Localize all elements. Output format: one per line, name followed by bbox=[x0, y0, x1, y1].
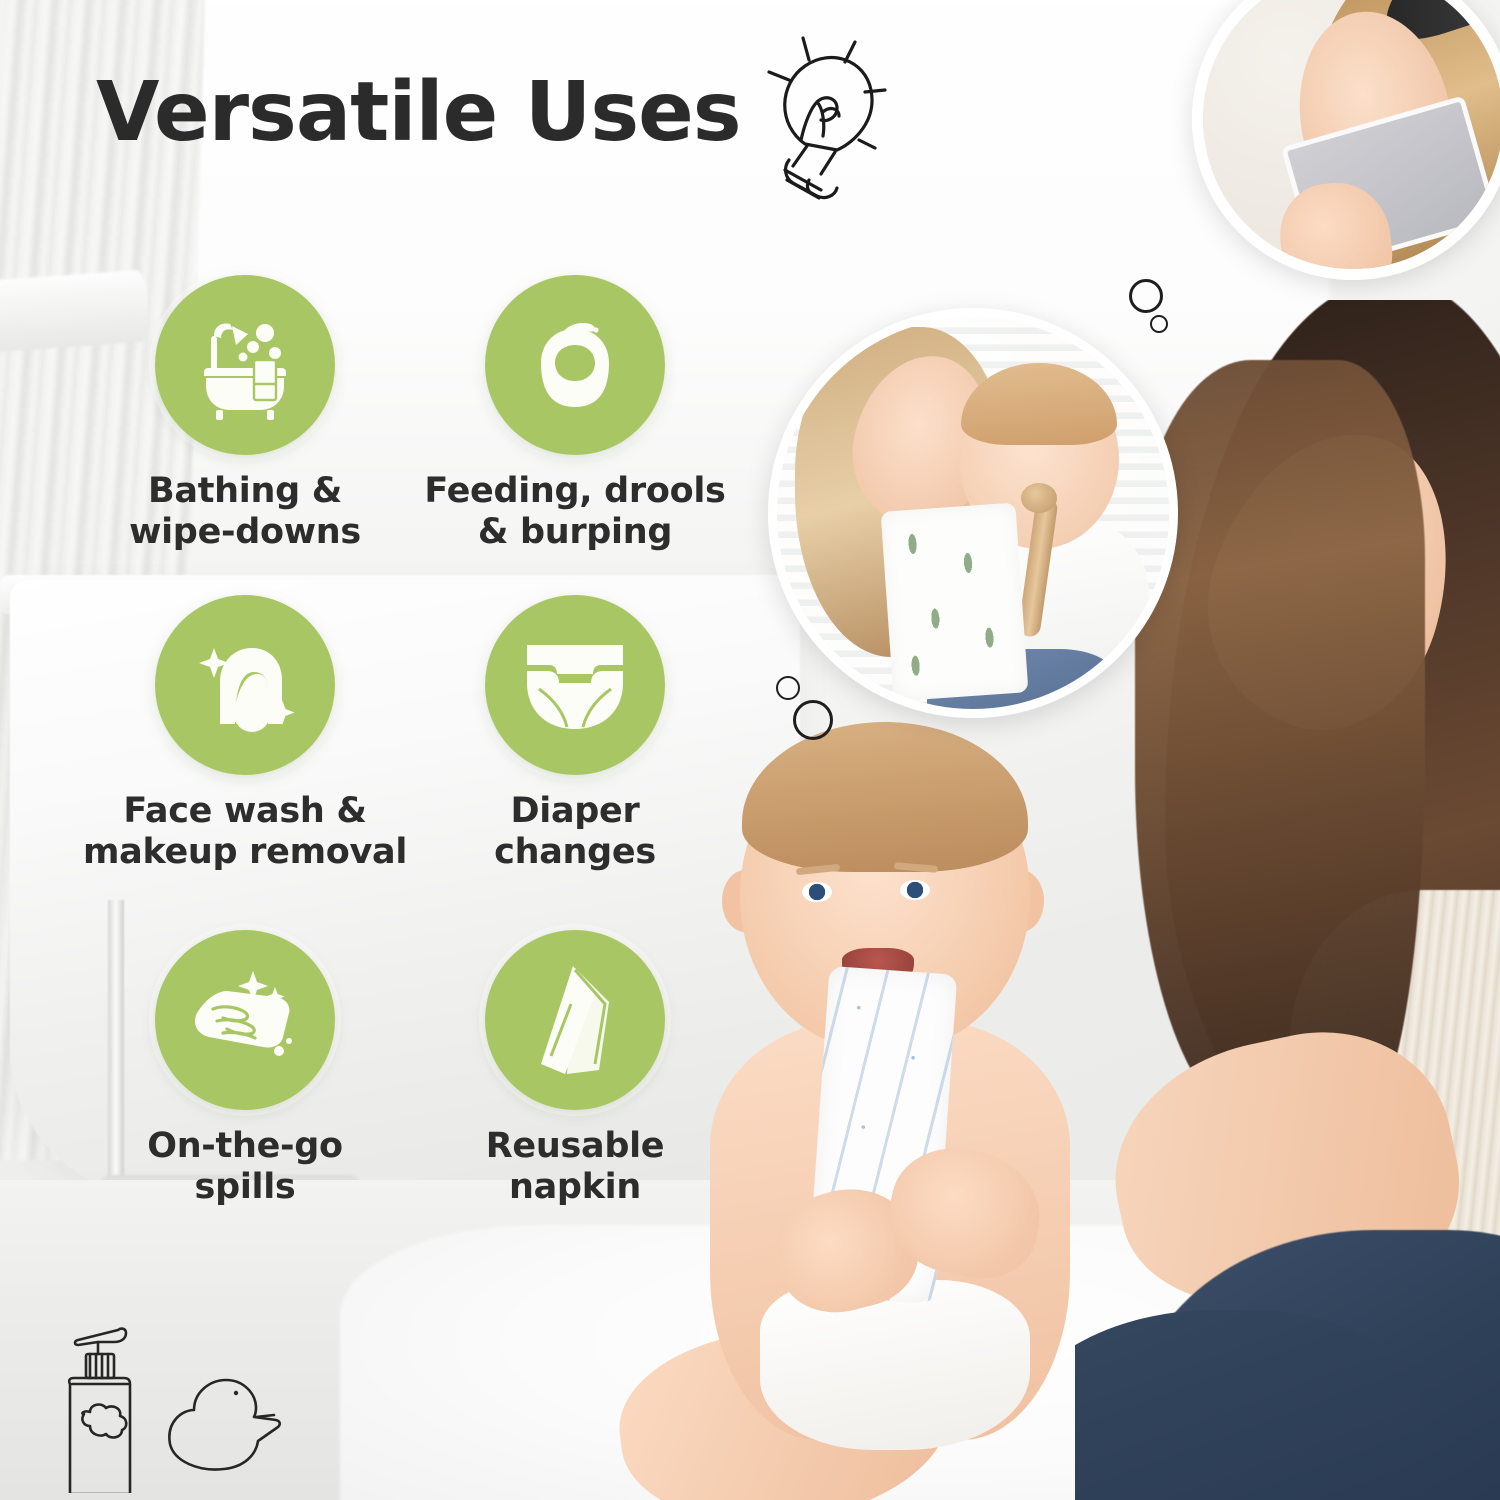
feature-label: Feeding, drools & burping bbox=[405, 471, 745, 552]
feature-label-line1: Bathing & bbox=[75, 471, 415, 512]
bubble-decoration bbox=[776, 676, 800, 700]
feature-on-the-go-spills[interactable]: On-the-go spills bbox=[75, 930, 415, 1207]
baby-hair bbox=[742, 722, 1028, 872]
feature-label-line2: napkin bbox=[405, 1167, 745, 1208]
lightbulb-doodle-icon bbox=[759, 28, 889, 208]
inset-burp-cloth bbox=[881, 503, 1029, 702]
mother-hair-front bbox=[1135, 360, 1425, 1120]
feature-label: Diaper changes bbox=[405, 791, 745, 872]
feature-label: Reusable napkin bbox=[405, 1126, 745, 1207]
feature-face-wash[interactable]: Face wash & makeup removal bbox=[75, 595, 415, 872]
bubble-decoration bbox=[1150, 315, 1168, 333]
feature-label-line2: & burping bbox=[405, 512, 745, 553]
face-sparkle-icon bbox=[155, 595, 335, 775]
feature-diaper-changes[interactable]: Diaper changes bbox=[405, 595, 745, 872]
folded-napkin-icon bbox=[485, 930, 665, 1110]
feature-label-line1: Reusable bbox=[405, 1126, 745, 1167]
feature-label-line2: wipe-downs bbox=[75, 512, 415, 553]
bubble-decoration bbox=[793, 700, 833, 740]
wooden-rattle-head bbox=[1021, 483, 1057, 513]
baby-eye-left bbox=[802, 882, 832, 902]
feature-label-line2: changes bbox=[405, 832, 745, 873]
corner-doodles bbox=[40, 1318, 290, 1498]
feature-bathing[interactable]: Bathing & wipe-downs bbox=[75, 275, 415, 552]
feature-label-line2: makeup removal bbox=[75, 832, 415, 873]
feature-grid: Bathing & wipe-downs Feeding, drools & b… bbox=[0, 0, 760, 1260]
baby-bib-icon bbox=[485, 275, 665, 455]
feature-label-line2: spills bbox=[75, 1167, 415, 1208]
infographic-canvas: Versatile Uses bbox=[0, 0, 1500, 1500]
feature-label: On-the-go spills bbox=[75, 1126, 415, 1207]
inset-burp-cloth-pattern bbox=[881, 503, 1029, 702]
bathtub-shower-icon bbox=[155, 275, 335, 455]
bubble-decoration bbox=[1129, 279, 1163, 313]
feature-label-line1: On-the-go bbox=[75, 1126, 415, 1167]
baby-diaper bbox=[760, 1280, 1030, 1450]
feature-label-line1: Feeding, drools bbox=[405, 471, 745, 512]
feature-label-line1: Diaper bbox=[405, 791, 745, 832]
feature-feeding[interactable]: Feeding, drools & burping bbox=[405, 275, 745, 552]
baby-eye-right bbox=[900, 880, 930, 900]
diaper-icon bbox=[485, 595, 665, 775]
photo-mother-baby-cloth bbox=[768, 308, 1178, 718]
feature-reusable-napkin[interactable]: Reusable napkin bbox=[405, 930, 745, 1207]
soap-dispenser-doodle-icon bbox=[69, 1329, 130, 1493]
hand-wipe-sparkle-icon bbox=[155, 930, 335, 1110]
photo-woman-wiping-face bbox=[1192, 0, 1500, 280]
feature-label: Face wash & makeup removal bbox=[75, 791, 415, 872]
rubber-duck-doodle-icon bbox=[169, 1380, 279, 1469]
feature-label-line1: Face wash & bbox=[75, 791, 415, 832]
feature-label: Bathing & wipe-downs bbox=[75, 471, 415, 552]
